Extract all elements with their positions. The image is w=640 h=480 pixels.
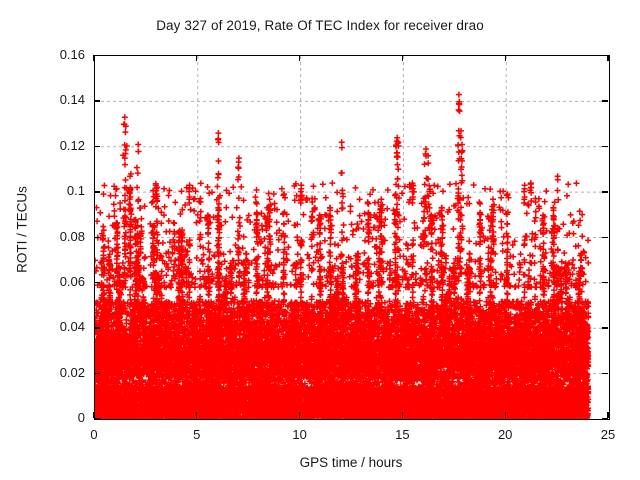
x-tick-mark [299,412,300,418]
y-tick-mark [94,191,100,192]
x-tick-label: 20 [498,428,512,441]
y-tick-mark-right [602,327,608,328]
y-tick-mark-right [602,282,608,283]
x-tick-mark-top [607,55,608,61]
chart-root: Day 327 of 2019, Rate Of TEC Index for r… [0,0,640,480]
x-tick-label: 15 [395,428,409,441]
y-tick-mark-right [602,100,608,101]
y-tick-mark [94,237,100,238]
y-tick-mark [94,146,100,147]
y-axis-title: ROTI / TECUs [15,150,30,310]
x-tick-mark [196,412,197,418]
x-tick-mark [505,412,506,418]
y-tick-mark [94,100,100,101]
y-tick-mark-right [602,373,608,374]
x-tick-mark-top [402,55,403,61]
x-tick-mark [402,412,403,418]
x-tick-label: 10 [292,428,306,441]
y-tick-mark-right [602,191,608,192]
x-tick-mark-top [93,55,94,61]
y-tick-mark [94,282,100,283]
x-axis-tick-labels: 0510152025 [0,0,640,480]
x-tick-mark-top [196,55,197,61]
y-tick-mark [94,418,100,419]
y-tick-mark-right [602,418,608,419]
x-tick-mark-top [505,55,506,61]
y-tick-mark [94,373,100,374]
x-tick-label: 0 [90,428,97,441]
x-tick-mark-top [299,55,300,61]
x-tick-label: 5 [193,428,200,441]
x-axis-title: GPS time / hours [94,455,608,470]
y-tick-mark [94,55,100,56]
y-tick-mark [94,327,100,328]
x-tick-label: 25 [601,428,615,441]
x-tick-mark [93,412,94,418]
y-tick-mark-right [602,146,608,147]
x-tick-mark [607,412,608,418]
y-tick-mark-right [602,237,608,238]
